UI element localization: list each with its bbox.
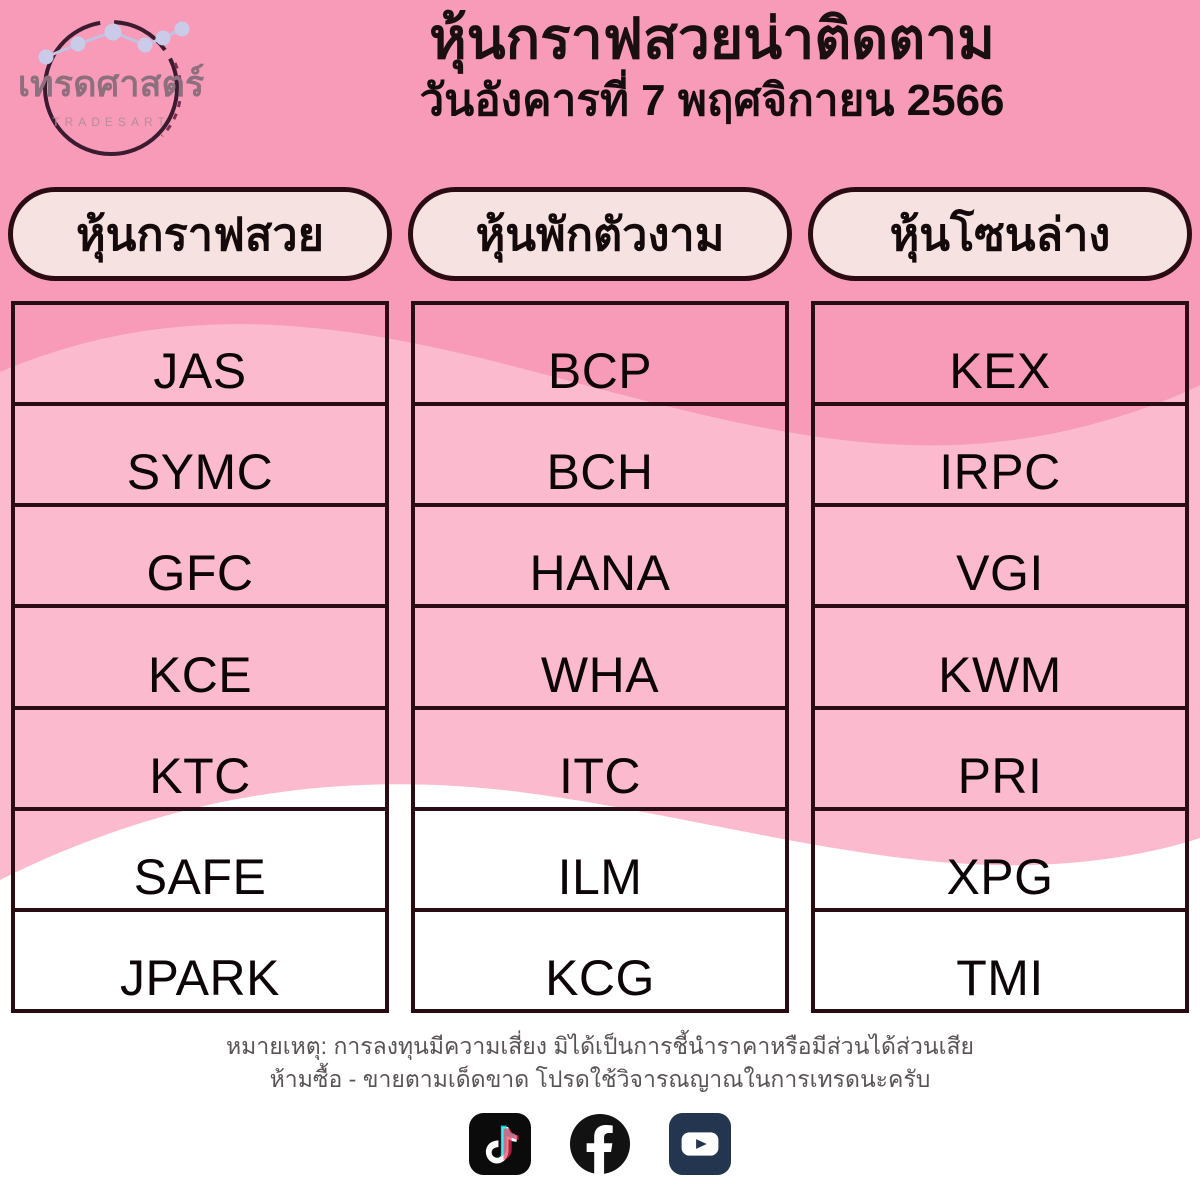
table-row[interactable]: TMI	[815, 912, 1185, 1009]
page-title: หุ้นกราฟสวยน่าติดตาม	[232, 6, 1192, 73]
category-pill-lower-zone[interactable]: หุ้นโซนล่าง	[808, 187, 1192, 281]
table-row[interactable]: WHA	[415, 608, 785, 709]
page-header: เทรดศาสตร์ TRADESART หุ้นกราฟสวยน่าติดตา…	[0, 0, 1200, 178]
column-wrap-1: JAS SYMC GFC KCE KTC SAFE JPARK	[0, 301, 400, 1016]
ticker-label: KWM	[938, 650, 1062, 706]
table-row[interactable]: VGI	[815, 507, 1185, 608]
table-row[interactable]: KCG	[415, 912, 785, 1009]
table-row[interactable]: KTC	[15, 710, 385, 811]
pill-cell-3: หุ้นโซนล่าง	[800, 182, 1200, 286]
facebook-icon[interactable]	[569, 1113, 631, 1175]
ticker-label: PRI	[958, 751, 1043, 807]
table-row[interactable]: XPG	[815, 811, 1185, 912]
table-row[interactable]: BCH	[415, 406, 785, 507]
page-subtitle: วันอังคารที่ 7 พฤศจิกายน 2566	[232, 75, 1192, 128]
page-footer: หมายเหตุ: การลงทุนมีความเสี่ยง มิได้เป็น…	[0, 1030, 1200, 1175]
stock-table-lower-zone: KEX IRPC VGI KWM PRI XPG TMI	[811, 301, 1189, 1013]
category-pill-consolidating[interactable]: หุ้นพักตัวงาม	[408, 187, 792, 281]
column-wrap-3: KEX IRPC VGI KWM PRI XPG TMI	[800, 301, 1200, 1016]
ticker-label: TMI	[956, 953, 1044, 1009]
ticker-label: KCG	[545, 953, 655, 1009]
ticker-label: BCP	[548, 346, 652, 402]
ticker-label: JAS	[153, 346, 246, 402]
title-block: หุ้นกราฟสวยน่าติดตาม วันอังคารที่ 7 พฤศจ…	[232, 6, 1192, 128]
social-links-row	[0, 1113, 1200, 1175]
table-row[interactable]: ITC	[415, 710, 785, 811]
table-row[interactable]: SAFE	[15, 811, 385, 912]
disclaimer-line-1: หมายเหตุ: การลงทุนมีความเสี่ยง มิได้เป็น…	[0, 1030, 1200, 1063]
tiktok-icon[interactable]	[469, 1113, 531, 1175]
category-pill-row: หุ้นกราฟสวย หุ้นพักตัวงาม หุ้นโซนล่าง	[0, 182, 1200, 286]
ticker-label: KTC	[149, 751, 251, 807]
ticker-label: SYMC	[127, 447, 273, 503]
table-row[interactable]: GFC	[15, 507, 385, 608]
logo-thai-name: เทรดศาสตร์	[18, 63, 205, 104]
table-row[interactable]: ILM	[415, 811, 785, 912]
table-row[interactable]: SYMC	[15, 406, 385, 507]
stock-tables-row: JAS SYMC GFC KCE KTC SAFE JPARK BCP BCH …	[0, 301, 1200, 1016]
ticker-label: IRPC	[939, 447, 1060, 503]
ticker-label: JPARK	[120, 953, 280, 1009]
category-pill-graph-beautiful[interactable]: หุ้นกราฟสวย	[8, 187, 392, 281]
ticker-label: KCE	[148, 650, 252, 706]
pill-label-2: หุ้นพักตัวงาม	[476, 198, 725, 270]
stock-table-graph-beautiful: JAS SYMC GFC KCE KTC SAFE JPARK	[11, 301, 389, 1013]
ticker-label: SAFE	[134, 852, 267, 908]
table-row[interactable]: JPARK	[15, 912, 385, 1009]
table-row[interactable]: HANA	[415, 507, 785, 608]
ticker-label: HANA	[530, 548, 671, 604]
table-row[interactable]: BCP	[415, 305, 785, 406]
stock-table-consolidating: BCP BCH HANA WHA ITC ILM KCG	[411, 301, 789, 1013]
table-row[interactable]: PRI	[815, 710, 1185, 811]
pill-label-1: หุ้นกราฟสวย	[76, 198, 324, 270]
ticker-label: KEX	[949, 346, 1051, 402]
ticker-label: WHA	[541, 650, 659, 706]
table-row[interactable]: KEX	[815, 305, 1185, 406]
table-row[interactable]: KCE	[15, 608, 385, 709]
ticker-label: GFC	[146, 548, 253, 604]
ticker-label: ITC	[559, 751, 641, 807]
pill-label-3: หุ้นโซนล่าง	[890, 198, 1111, 270]
pill-cell-2: หุ้นพักตัวงาม	[400, 182, 800, 286]
ticker-label: XPG	[946, 852, 1053, 908]
disclaimer-line-2: ห้ามซื้อ - ขายตามเด็ดขาด โปรดใช้วิจารณญา…	[0, 1063, 1200, 1096]
pill-cell-1: หุ้นกราฟสวย	[0, 182, 400, 286]
youtube-icon[interactable]	[669, 1113, 731, 1175]
column-wrap-2: BCP BCH HANA WHA ITC ILM KCG	[400, 301, 800, 1016]
logo-latin-name: TRADESART	[52, 115, 169, 129]
table-row[interactable]: IRPC	[815, 406, 1185, 507]
table-row[interactable]: KWM	[815, 608, 1185, 709]
ticker-label: BCH	[546, 447, 653, 503]
ticker-label: VGI	[956, 548, 1044, 604]
ticker-label: ILM	[558, 852, 643, 908]
brand-logo: เทรดศาสตร์ TRADESART	[12, 8, 210, 168]
table-row[interactable]: JAS	[15, 305, 385, 406]
